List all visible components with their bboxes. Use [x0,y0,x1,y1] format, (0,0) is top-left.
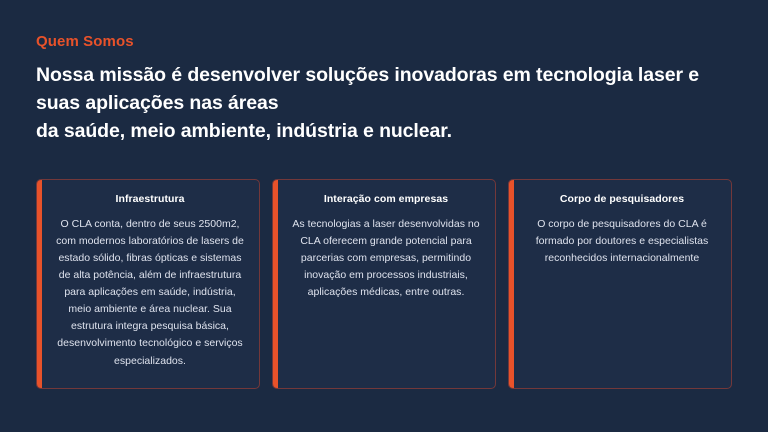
card-title: Interação com empresas [291,193,481,207]
slide-header: Quem Somos Nossa missão é desenvolver so… [36,33,736,146]
card-corpo-de-pesquisadores: Corpo de pesquisadores O corpo de pesqui… [508,179,732,389]
card-body-text: As tecnologias a laser desenvolvidas no … [291,216,481,302]
card-infraestrutura: Infraestrutura O CLA conta, dentro de se… [36,179,260,389]
card-title: Infraestrutura [55,193,245,207]
accent-bar-icon [37,180,42,388]
section-eyebrow-label: Quem Somos [36,33,736,52]
slide: Quem Somos Nossa missão é desenvolver so… [0,0,768,432]
accent-bar-icon [273,180,278,388]
accent-bar-icon [509,180,514,388]
card-title: Corpo de pesquisadores [527,193,717,207]
card-body-text: O CLA conta, dentro de seus 2500m2, com … [55,216,245,370]
card-interacao-com-empresas: Interação com empresas As tecnologias a … [272,179,496,389]
card-list: Infraestrutura O CLA conta, dentro de se… [36,179,732,389]
page-title: Nossa missão é desenvolver soluções inov… [36,61,736,146]
card-body-text: O corpo de pesquisadores do CLA é formad… [527,216,717,267]
